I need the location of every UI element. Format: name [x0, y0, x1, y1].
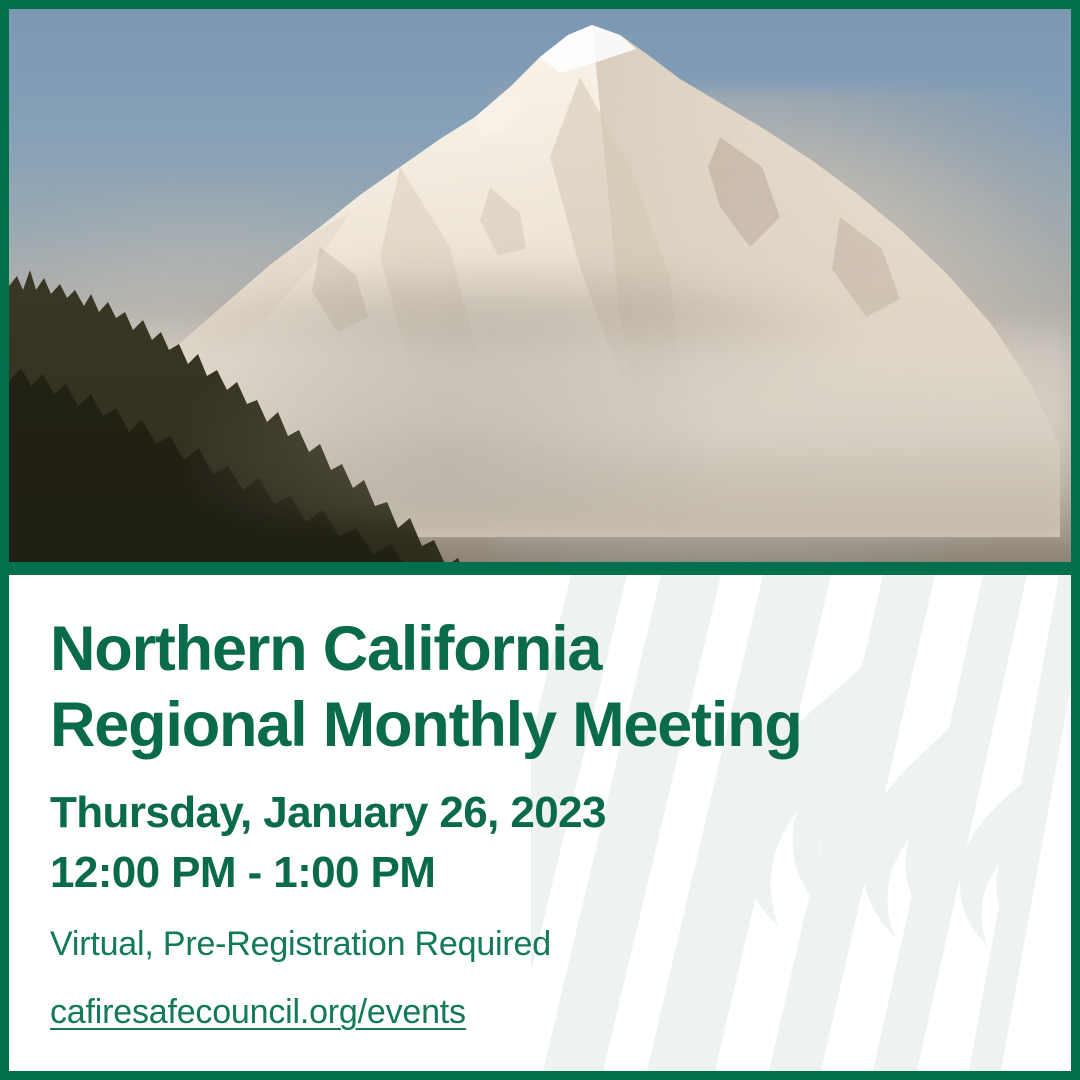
headline-line-1: Northern California: [50, 614, 601, 684]
registration-link[interactable]: cafiresafecouncil.org/events: [50, 965, 466, 1033]
event-flyer: Northern California Regional Monthly Mee…: [0, 0, 1080, 1080]
snow-capped-mountain-photo: [9, 9, 1071, 562]
event-time: 12:00 PM - 1:00 PM: [50, 841, 1010, 901]
event-location: Virtual, Pre-Registration Required: [50, 901, 1010, 965]
forest-silhouette: [9, 262, 1071, 562]
event-date: Thursday, January 26, 2023: [50, 763, 1010, 841]
event-details-panel: Northern California Regional Monthly Mee…: [9, 575, 1071, 1071]
headline-line-2: Regional Monthly Meeting: [50, 687, 1010, 763]
page-title: Northern California Regional Monthly Mee…: [50, 575, 1010, 763]
green-divider-bar: [9, 562, 1071, 575]
flyer-inner: Northern California Regional Monthly Mee…: [9, 9, 1071, 1071]
event-copy: Northern California Regional Monthly Mee…: [50, 575, 1010, 1033]
